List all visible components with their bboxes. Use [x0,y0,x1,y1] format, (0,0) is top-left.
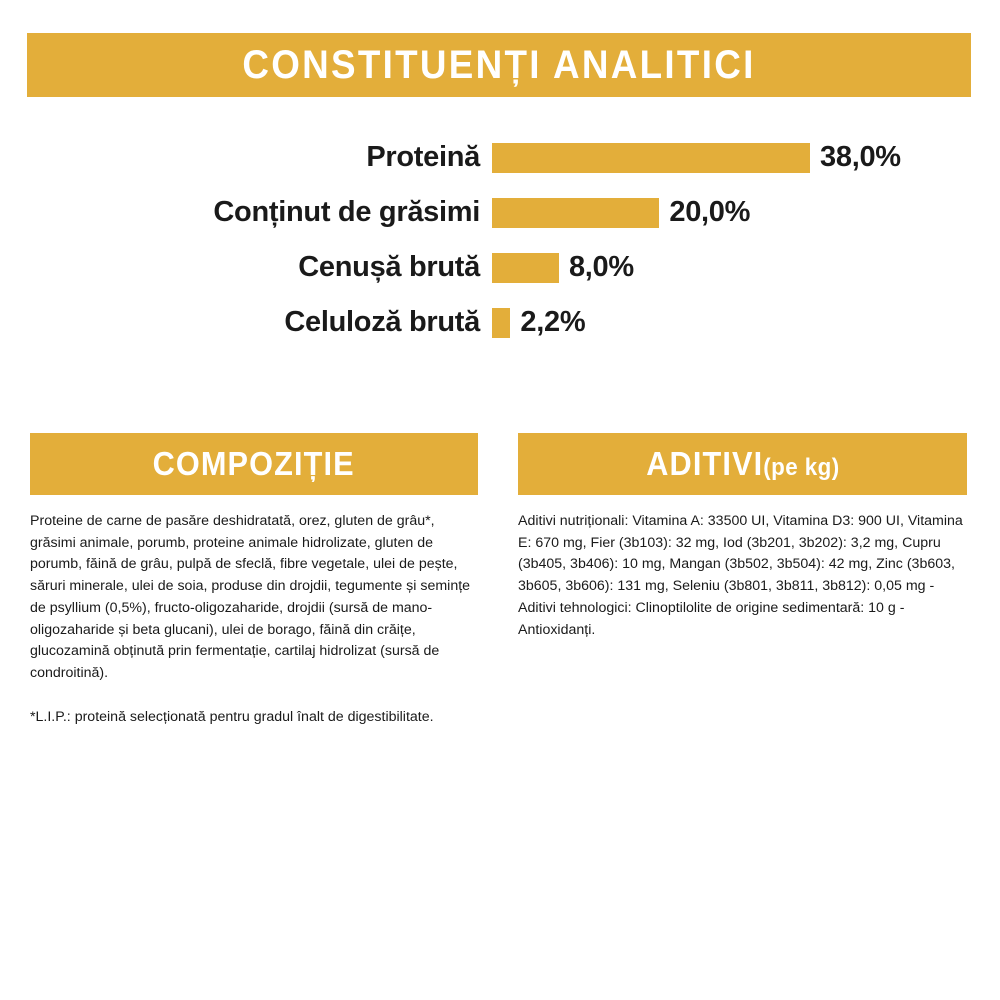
analytical-constituents-header-band: CONSTITUENȚI ANALITICI [27,33,971,97]
composition-heading: COMPOZIȚIE [153,445,355,483]
composition-column: COMPOZIȚIE Proteine de carne de pasăre d… [30,433,478,728]
product-info-panel: CONSTITUENȚI ANALITICI Proteină38,0%Conț… [0,0,1000,1000]
chart-bar-label: Celuloză brută [0,306,492,339]
chart-bar-label: Cenușă brută [0,251,492,284]
chart-bar-value: 8,0% [569,251,634,284]
chart-bar-label: Conținut de grăsimi [0,196,492,229]
additives-heading-main: ADITIVI [646,445,763,482]
composition-body-text: Proteine de carne de pasăre deshidratată… [30,511,478,685]
chart-bar [492,143,810,173]
chart-bar-wrap: 20,0% [492,196,1000,229]
chart-bar [492,308,510,338]
composition-footnote: *L.I.P.: proteină selecționată pentru gr… [30,707,478,729]
chart-bar-wrap: 38,0% [492,141,1000,174]
chart-bar-wrap: 2,2% [492,306,1000,339]
chart-bar [492,253,559,283]
additives-header-band: ADITIVI(pe kg) [518,433,967,495]
chart-bar-label: Proteină [0,141,492,174]
chart-row: Cenușă brută8,0% [0,240,1000,295]
chart-row: Celuloză brută2,2% [0,295,1000,350]
chart-bar-value: 38,0% [820,141,901,174]
chart-bar [492,198,659,228]
chart-row: Conținut de grăsimi20,0% [0,185,1000,240]
footer [0,900,1000,1000]
additives-heading: ADITIVI(pe kg) [646,445,839,483]
chart-bar-wrap: 8,0% [492,251,1000,284]
chart-row: Proteină38,0% [0,130,1000,185]
additives-body-text: Aditivi nutriționali: Vitamina A: 33500 … [518,511,967,641]
analytical-constituents-chart: Proteină38,0%Conținut de grăsimi20,0%Cen… [0,130,1000,350]
chart-bar-value: 2,2% [520,306,585,339]
composition-header-band: COMPOZIȚIE [30,433,478,495]
page-title: CONSTITUENȚI ANALITICI [242,43,755,88]
chart-bar-value: 20,0% [669,196,750,229]
additives-column: ADITIVI(pe kg) Aditivi nutriționali: Vit… [518,433,967,641]
additives-heading-sub: (pe kg) [763,454,839,481]
